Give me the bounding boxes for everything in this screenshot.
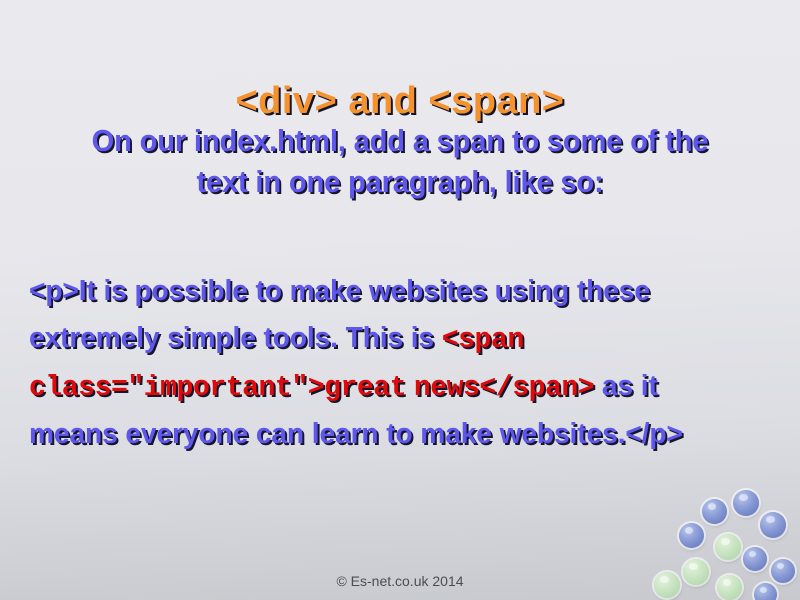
bubble-3-icon <box>733 490 759 516</box>
slide-canvas: <div> and <span> On our index.html, add … <box>0 0 800 600</box>
body-text-intro: <p>It is possible to make websites using <box>29 275 569 307</box>
code-span-close-tag: news</span> <box>414 371 594 404</box>
copyright-footer: © Es-net.co.uk 2014 <box>0 573 800 590</box>
bubble-1-icon <box>679 523 704 548</box>
slide-body-text: <p>It is possible to make websites using… <box>29 268 752 458</box>
slide-subtitle: On our index.html, add a span to some of… <box>32 120 769 202</box>
bubble-5-icon <box>715 534 741 560</box>
bubble-8-icon <box>743 547 767 571</box>
code-span-open-tag: <span <box>442 323 524 356</box>
page-title: <div> and <span> <box>0 79 800 123</box>
bubble-2-icon <box>702 499 727 524</box>
subtitle-line-1: On our index.html, add a span to some of… <box>32 120 769 161</box>
bubble-4-icon <box>760 512 786 538</box>
subtitle-line-2: text in one paragraph, like so: <box>32 161 769 202</box>
code-span-class-attribute: class="important">great <box>29 371 406 404</box>
body-text-closing: learn to make websites.</p> <box>312 418 683 450</box>
